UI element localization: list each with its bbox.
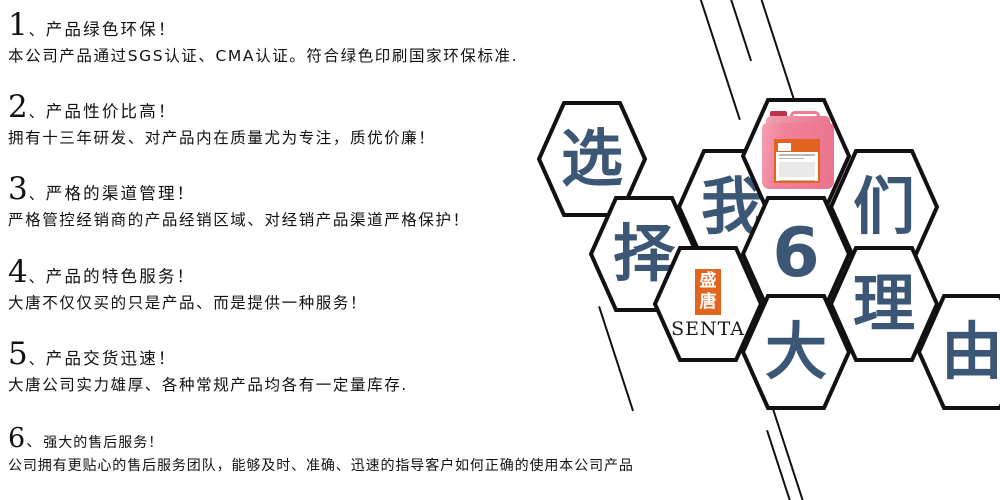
reason-body: 大唐公司实力雄厚、各种常规产品均各有一定量库存. <box>8 376 648 395</box>
reason-number: 6 <box>8 425 25 452</box>
reason-number: 3 <box>8 174 28 205</box>
reason-number: 5 <box>8 339 28 370</box>
reason-heading: 4 、 产品的特色服务！ <box>8 257 648 288</box>
reason-heading: 6 、 强大的售后服务！ <box>8 425 993 452</box>
reason-separator: 、 <box>29 187 44 202</box>
reason-body: 公司拥有更贴心的售后服务团队，能够及时、准确、迅速的指导客户如何正确的使用本公司… <box>8 458 993 475</box>
brand-mark-char-bottom: 唐 <box>700 292 717 313</box>
reason-title: 产品性价比高！ <box>46 104 177 121</box>
reason-separator: 、 <box>29 270 44 285</box>
label-text-line <box>779 154 815 156</box>
reason-body: 本公司产品通过SGS认证、CMA认证。符合绿色印刷国家环保标准. <box>8 47 648 66</box>
reason-item-4: 4 、 产品的特色服务！ 大唐不仅仅买的只是产品、而是提供一种服务！ <box>8 257 648 313</box>
reason-number: 1 <box>8 10 28 41</box>
reason-number: 4 <box>8 257 28 288</box>
reason-separator: 、 <box>26 434 41 449</box>
diagonal-line-top-1 <box>698 0 741 120</box>
label-text-line <box>779 158 804 160</box>
diagonal-line-top-2 <box>729 0 752 61</box>
reason-separator: 、 <box>29 105 44 120</box>
reason-title: 产品的特色服务！ <box>46 269 196 286</box>
reason-heading: 1 、 产品绿色环保！ <box>8 10 648 41</box>
label-logo-chip <box>778 143 791 151</box>
label-header-bar <box>776 141 818 152</box>
reason-list: 1 、 产品绿色环保！ 本公司产品通过SGS认证、CMA认证。符合绿色印刷国家环… <box>8 0 648 500</box>
reason-separator: 、 <box>29 23 44 38</box>
reason-number: 2 <box>8 92 28 123</box>
reason-body: 大唐不仅仅买的只是产品、而是提供一种服务！ <box>8 294 648 313</box>
reason-title: 产品交货迅速！ <box>46 351 177 368</box>
reason-title: 强大的售后服务！ <box>43 436 163 450</box>
reason-item-5: 5 、 产品交货迅速！ 大唐公司实力雄厚、各种常规产品均各有一定量库存. <box>8 339 648 395</box>
brand-name: SENTA <box>671 318 745 340</box>
poster-canvas: 1 、 产品绿色环保！ 本公司产品通过SGS认证、CMA认证。符合绿色印刷国家环… <box>0 0 1000 500</box>
brand-logo: 盛 唐 SENTA <box>652 245 764 363</box>
reason-item-1: 1 、 产品绿色环保！ 本公司产品通过SGS认证、CMA认证。符合绿色印刷国家环… <box>8 10 648 66</box>
brand-mark-icon: 盛 唐 <box>695 269 721 315</box>
reason-heading: 5 、 产品交货迅速！ <box>8 339 648 370</box>
jerrycan-label <box>774 139 820 183</box>
hexagon-cell-logo[interactable]: 盛 唐 SENTA <box>652 245 764 363</box>
reason-title: 产品绿色环保！ <box>46 22 177 39</box>
reason-separator: 、 <box>29 352 44 367</box>
brand-mark-char-top: 盛 <box>700 271 717 292</box>
label-text-line <box>779 180 815 182</box>
reason-item-6: 6 、 强大的售后服务！ 公司拥有更贴心的售后服务团队，能够及时、准确、迅速的指… <box>8 425 993 475</box>
hexagon-cell-you[interactable]: 由 <box>916 293 1000 411</box>
label-text-block <box>779 162 815 177</box>
reason-title: 严格的渠道管理！ <box>46 186 196 203</box>
